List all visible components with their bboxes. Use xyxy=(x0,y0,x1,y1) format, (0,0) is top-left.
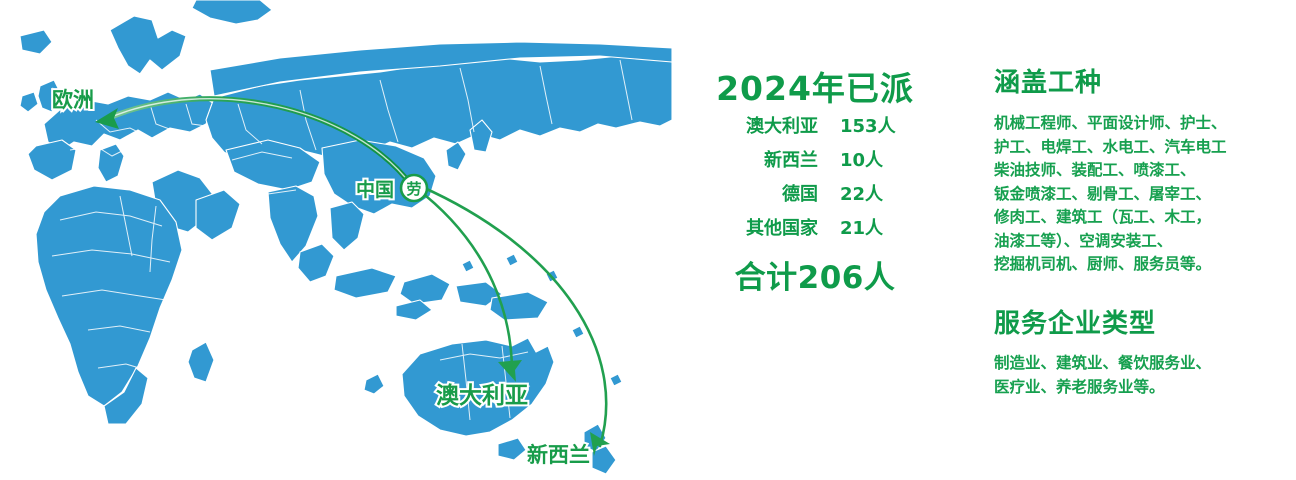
stats-total: 合计206人 xyxy=(672,252,958,297)
stats-title: 2024年已派 xyxy=(672,62,958,110)
industries-heading: 服务企业类型 xyxy=(994,303,1156,340)
jobs-line: 柴油技师、装配工、喷漆工、 xyxy=(994,159,1294,183)
stats-row-value: 153人 xyxy=(818,112,924,138)
world-map-panel: 劳 欧洲 欧洲 中国 中国 澳大利亚 澳大利亚 新西兰 新西兰 xyxy=(0,0,672,480)
jobs-line: 机械工程师、平面设计师、护士、 xyxy=(994,112,1294,136)
map-label-china-text: 中国 xyxy=(356,175,394,202)
stats-row: 德国 22人 xyxy=(672,180,958,214)
industries-line: 制造业、建筑业、餐饮服务业、 xyxy=(994,352,1294,376)
stats-row-label: 澳大利亚 xyxy=(706,112,818,138)
stats-row: 新西兰 10人 xyxy=(672,146,958,180)
stats-row: 其他国家 21人 xyxy=(672,214,958,248)
jobs-body: 机械工程师、平面设计师、护士、 护工、电焊工、水电工、汽车电工 柴油技师、装配工… xyxy=(994,112,1294,277)
info-panel: 涵盖工种 机械工程师、平面设计师、护士、 护工、电焊工、水电工、汽车电工 柴油技… xyxy=(988,0,1296,480)
stats-row-value: 10人 xyxy=(818,146,924,172)
jobs-line: 挖掘机司机、厨师、服务员等。 xyxy=(994,253,1294,277)
jobs-line: 油漆工等）、空调安装工、 xyxy=(994,230,1294,254)
stats-row-label: 德国 xyxy=(706,180,818,206)
industries-line: 医疗业、养老服务业等。 xyxy=(994,376,1294,400)
industries-body: 制造业、建筑业、餐饮服务业、 医疗业、养老服务业等。 xyxy=(994,352,1294,399)
stats-row-value: 21人 xyxy=(818,214,924,240)
map-label-australia-text: 澳大利亚 xyxy=(436,376,528,410)
world-map-svg xyxy=(0,0,672,480)
jobs-line: 修肉工、建筑工（瓦工、木工， xyxy=(994,206,1294,230)
map-label-europe-text: 欧洲 xyxy=(52,84,94,114)
infographic-canvas: 劳 欧洲 欧洲 中国 中国 澳大利亚 澳大利亚 新西兰 新西兰 2024年已派 … xyxy=(0,0,1296,480)
jobs-heading: 涵盖工种 xyxy=(994,62,1102,99)
jobs-line: 护工、电焊工、水电工、汽车电工 xyxy=(994,136,1294,160)
stats-row-label: 其他国家 xyxy=(706,214,818,240)
dispatch-statistics-panel: 2024年已派 澳大利亚 153人 新西兰 10人 德国 22人 其他国家 21… xyxy=(672,0,972,480)
map-label-new-zealand-text: 新西兰 xyxy=(527,439,590,469)
jobs-line: 钣金喷漆工、剔骨工、屠宰工、 xyxy=(994,183,1294,207)
map-landmasses xyxy=(20,0,672,474)
marker-glyph: 劳 xyxy=(406,180,421,198)
stats-rows: 澳大利亚 153人 新西兰 10人 德国 22人 其他国家 21人 xyxy=(672,112,958,248)
stats-row-value: 22人 xyxy=(818,180,924,206)
china-origin-marker[interactable]: 劳 xyxy=(399,173,429,203)
stats-row: 澳大利亚 153人 xyxy=(672,112,958,146)
stats-row-label: 新西兰 xyxy=(706,146,818,172)
